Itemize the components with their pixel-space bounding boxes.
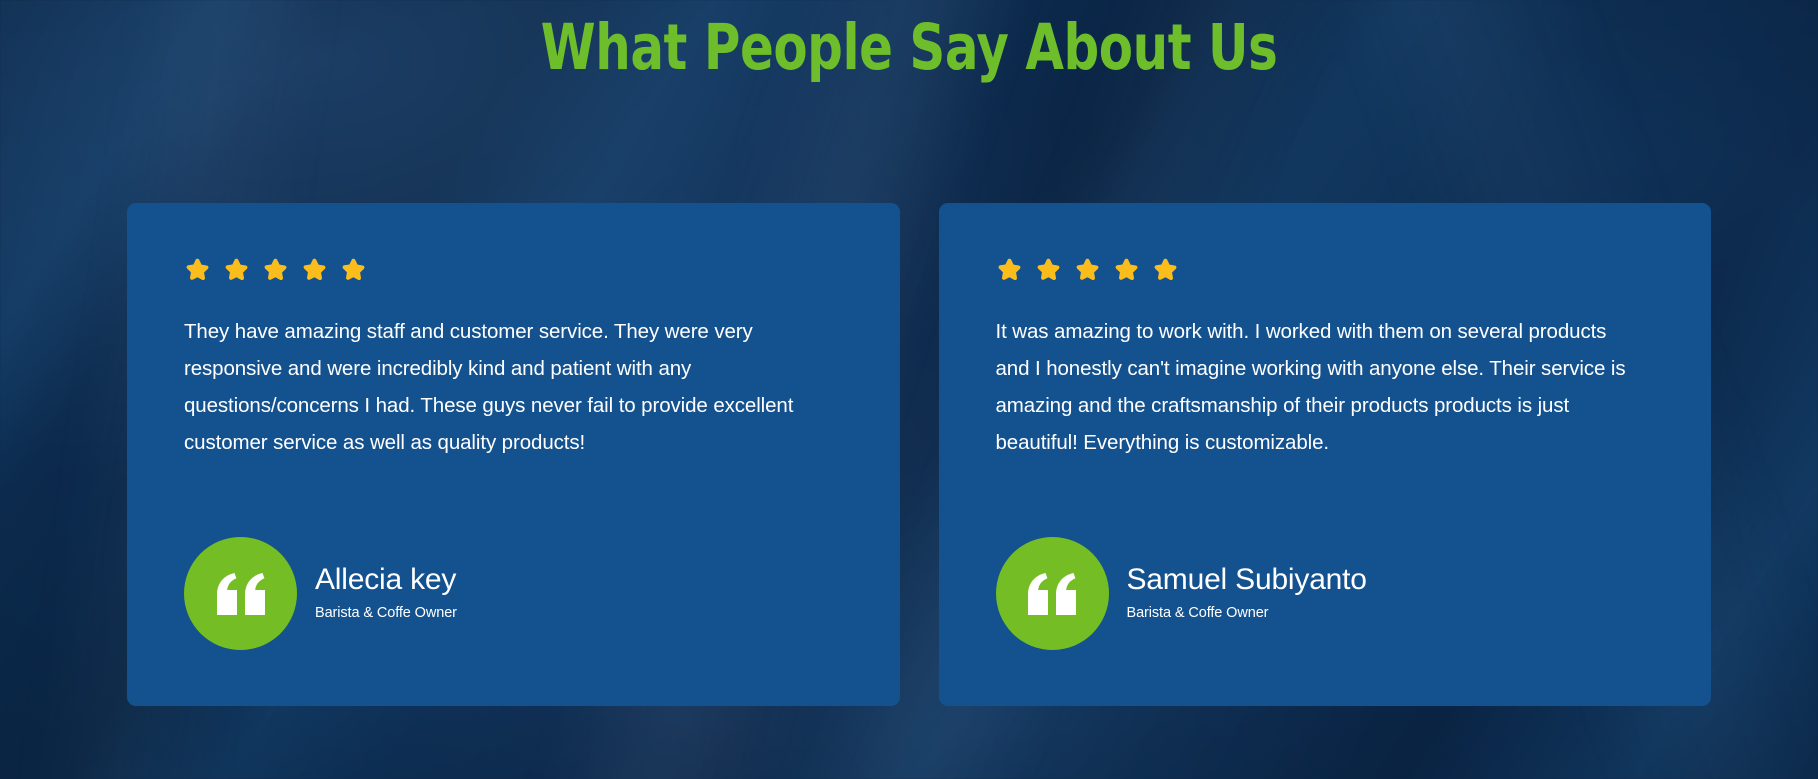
star-icon (1152, 257, 1179, 289)
star-icon (340, 257, 367, 289)
testimonials-section: What People Say About Us (0, 0, 1818, 779)
star-icon (996, 257, 1023, 289)
testimonial-card: They have amazing staff and customer ser… (127, 203, 900, 706)
star-icon (223, 257, 250, 289)
star-icon (301, 257, 328, 289)
page-title: What People Say About Us (109, 14, 1709, 82)
star-icon (1113, 257, 1140, 289)
star-icon (1035, 257, 1062, 289)
star-icon (184, 257, 211, 289)
author-name: Samuel Subiyanto (1127, 563, 1367, 597)
author-role: Barista & Coffe Owner (1127, 606, 1367, 622)
testimonial-author: Allecia key Barista & Coffe Owner (184, 537, 457, 650)
testimonial-card: It was amazing to work with. I worked wi… (939, 203, 1712, 706)
testimonial-author: Samuel Subiyanto Barista & Coffe Owner (996, 537, 1367, 650)
testimonial-quote: It was amazing to work with. I worked wi… (996, 313, 1636, 461)
author-meta: Allecia key Barista & Coffe Owner (315, 563, 457, 624)
avatar (184, 537, 297, 650)
star-icon (1074, 257, 1101, 289)
quote-mark-icon (1024, 573, 1080, 615)
testimonial-quote: They have amazing staff and customer ser… (184, 313, 824, 461)
star-rating (184, 257, 843, 289)
avatar (996, 537, 1109, 650)
author-meta: Samuel Subiyanto Barista & Coffe Owner (1127, 563, 1367, 624)
star-rating (996, 257, 1655, 289)
star-icon (262, 257, 289, 289)
author-name: Allecia key (315, 563, 457, 597)
testimonial-card-list: They have amazing staff and customer ser… (127, 203, 1711, 706)
quote-mark-icon (213, 573, 269, 615)
author-role: Barista & Coffe Owner (315, 606, 457, 622)
